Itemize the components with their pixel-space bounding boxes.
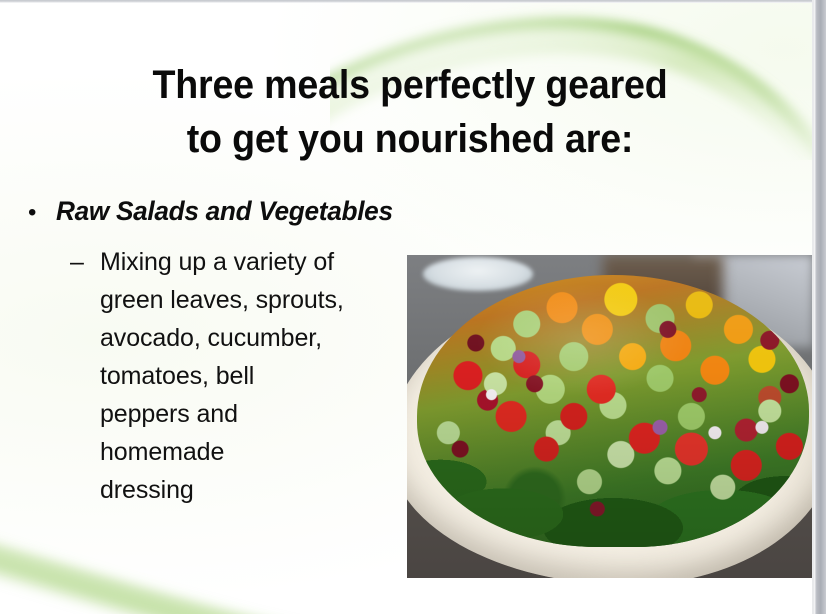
bullet-level2-line: avocado, cucumber, (100, 319, 392, 357)
slide-body: • Raw Salads and Vegetables – Mixing up … (28, 192, 428, 509)
bullet-level2-line: green leaves, sprouts, (100, 281, 392, 319)
bullet-level2-line: homemade (100, 433, 392, 471)
bullet-level2-line: tomatoes, bell (100, 357, 392, 395)
photo-lighting-gloss (417, 275, 809, 547)
salad-mound (417, 275, 809, 547)
bullet-level2-line: Mixing up a variety of (100, 243, 392, 281)
bullet-level1-label: Raw Salads and Vegetables (56, 192, 393, 230)
bullet-level2-label: Mixing up a variety of green leaves, spr… (100, 243, 392, 509)
bullet-level2-line: dressing (100, 471, 392, 509)
slide-title: Three meals perfectly geared to get you … (60, 58, 760, 166)
presentation-slide: Three meals perfectly geared to get you … (0, 0, 826, 614)
bullet-level1-raw-salads: • Raw Salads and Vegetables (28, 192, 428, 232)
bullet-level2-mixing-up: – Mixing up a variety of green leaves, s… (70, 243, 428, 509)
salad-platter-photo (407, 255, 813, 578)
title-line-1: Three meals perfectly geared (81, 58, 739, 112)
slide-frame-right-edge (814, 0, 826, 614)
bullet-marker-dot-icon: • (28, 194, 56, 232)
title-line-2: to get you nourished are: (81, 112, 739, 166)
bullet-level2-line: peppers and (100, 395, 392, 433)
slide-frame-top-edge (0, 0, 814, 3)
bullet-marker-dash-icon: – (70, 243, 100, 281)
